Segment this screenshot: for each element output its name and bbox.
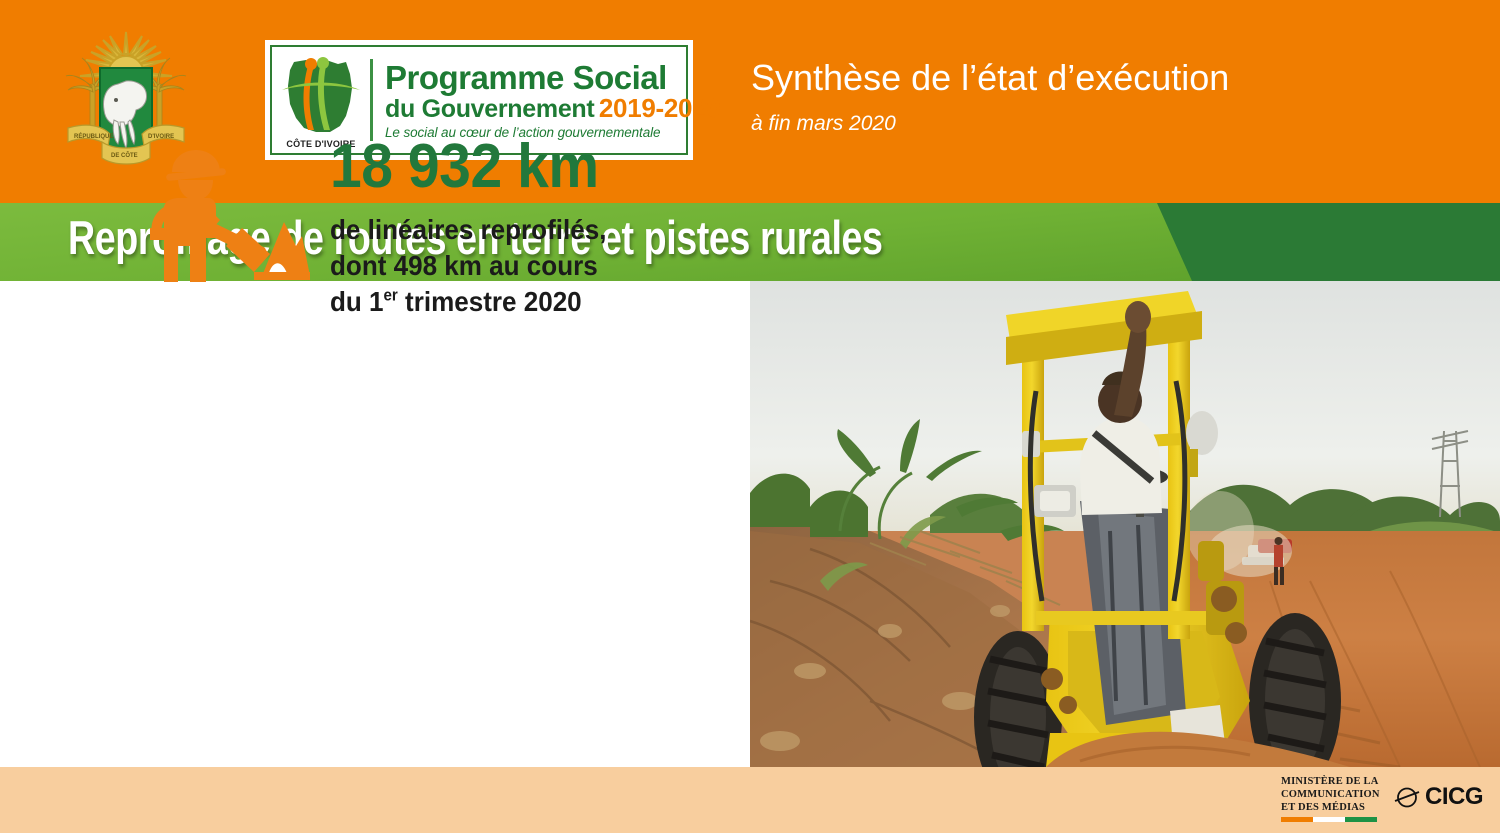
- programme-title: Programme Social: [385, 61, 721, 94]
- cicg-label: CICG: [1425, 785, 1483, 809]
- flag-stripe-white: [1313, 817, 1345, 822]
- statistic-desc-line3-prefix: du 1: [330, 286, 384, 317]
- statistic-description: de linéaires reprofilés, dont 498 km au …: [330, 212, 637, 319]
- cicg-circle-slash-icon: [1394, 784, 1420, 810]
- road-grader-photo: [750, 281, 1500, 767]
- statistic-desc-line3-suffix: trimestre 2020: [398, 286, 582, 317]
- svg-text:RÉPUBLIQUE: RÉPUBLIQUE: [74, 132, 113, 140]
- programme-government-label: du Gouvernement: [385, 95, 594, 123]
- svg-text:D'IVOIRE: D'IVOIRE: [148, 134, 174, 140]
- roadworks-worker-icon: [150, 142, 310, 297]
- statistic-desc-line2: dont 498 km au cours: [330, 250, 598, 281]
- statistic-value: 18 932 km: [330, 136, 634, 198]
- flag-stripe-orange: [1281, 817, 1313, 822]
- page-title: Synthèse de l’état d’exécution: [751, 57, 1229, 99]
- cicg-logo: CICG: [1394, 784, 1483, 810]
- ministry-line-3: ET DES MÉDIAS: [1281, 802, 1383, 815]
- ministry-line-1: MINISTÈRE DE LA: [1281, 776, 1383, 789]
- page-subtitle: à fin mars 2020: [751, 112, 896, 136]
- ministry-logo: MINISTÈRE DE LA COMMUNICATION ET DES MÉD…: [1281, 776, 1383, 822]
- statistic-desc-line1: de linéaires reprofilés,: [330, 214, 606, 245]
- badge-divider: [370, 59, 373, 141]
- footer-bar: [0, 767, 1500, 833]
- ministry-line-2: COMMUNICATION: [1281, 789, 1383, 802]
- ivory-coast-flag-bar: [1281, 817, 1377, 822]
- svg-text:DE CÔTE: DE CÔTE: [111, 151, 138, 159]
- statistic-desc-line3-ordinal: er: [384, 286, 398, 304]
- statistic-text: 18 932 km de linéaires reprofilés, dont …: [330, 136, 660, 319]
- programme-subtitle: du Gouvernement 2019-2020: [385, 95, 721, 122]
- flag-stripe-green: [1345, 817, 1377, 822]
- infographic-page: RÉPUBLIQUE D'IVOIRE DE CÔTE: [0, 0, 1500, 833]
- programme-years: 2019-2020: [599, 93, 721, 123]
